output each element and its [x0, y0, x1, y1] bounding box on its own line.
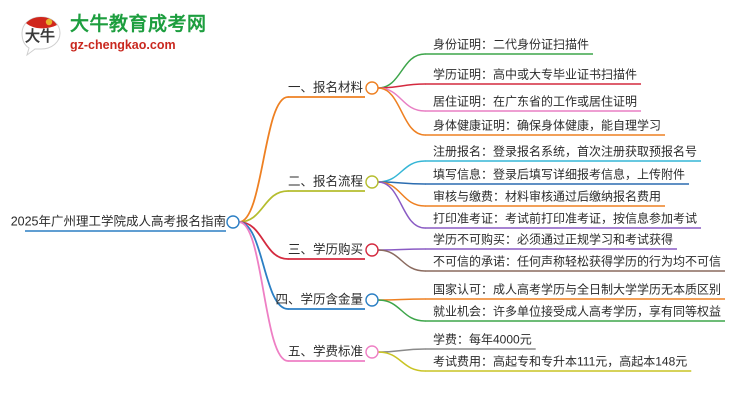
leaf-node-label-2-2[interactable]: 填写信息：登录后填写详细报考信息，上传附件	[433, 168, 685, 183]
leaf-node-label-3-1[interactable]: 学历不可购买：必须通过正规学习和考试获得	[433, 233, 673, 248]
leaf-node-label-4-2[interactable]: 就业机会：许多单位接受成人高考学历，享有同等权益	[433, 305, 721, 320]
leaf-node-label-2-3[interactable]: 审核与缴费：材料审核通过后缴纳报名费用	[433, 190, 661, 205]
branch-node-5[interactable]	[366, 346, 378, 358]
leaf-node-label-1-1[interactable]: 身份证明：二代身份证扫描件	[433, 38, 589, 53]
branch-node-label-5[interactable]: 五、学费标准	[288, 345, 363, 360]
leaf-node-label-2-1[interactable]: 注册报名：登录报名系统，首次注册获取预报名号	[433, 145, 697, 160]
leaf-node-label-3-2[interactable]: 不可信的承诺：任何声称轻松获得学历的行为均不可信	[433, 255, 721, 270]
branch-node-3[interactable]	[366, 244, 378, 256]
leaf-node-label-1-4[interactable]: 身体健康证明：确保身体健康，能自理学习	[433, 119, 661, 134]
branch-node-label-1[interactable]: 一、报名材料	[288, 81, 363, 96]
branch-node-label-4[interactable]: 四、学历含金量	[275, 293, 363, 308]
branch-node-label-3[interactable]: 三、学历购买	[288, 243, 363, 258]
root-node[interactable]	[227, 216, 239, 228]
root-node-label[interactable]: 2025年广州理工学院成人高考报名指南	[11, 215, 226, 230]
branch-node-label-2[interactable]: 二、报名流程	[288, 175, 363, 190]
mindmap-canvas	[0, 0, 750, 410]
branch-node-4[interactable]	[366, 294, 378, 306]
branch-node-2[interactable]	[366, 176, 378, 188]
leaf-node-label-5-1[interactable]: 学费：每年4000元	[433, 333, 532, 348]
leaf-node-label-5-2[interactable]: 考试费用：高起专和专升本111元，高起本148元	[433, 355, 687, 370]
leaf-node-label-1-2[interactable]: 学历证明：高中或大专毕业证书扫描件	[433, 68, 637, 83]
leaf-node-label-1-3[interactable]: 居住证明：在广东省的工作或居住证明	[433, 95, 637, 110]
branch-node-1[interactable]	[366, 82, 378, 94]
leaf-node-label-2-4[interactable]: 打印准考证：考试前打印准考证，按信息参加考试	[433, 212, 697, 227]
leaf-node-label-4-1[interactable]: 国家认可：成人高考学历与全日制大学学历无本质区别	[433, 283, 721, 298]
